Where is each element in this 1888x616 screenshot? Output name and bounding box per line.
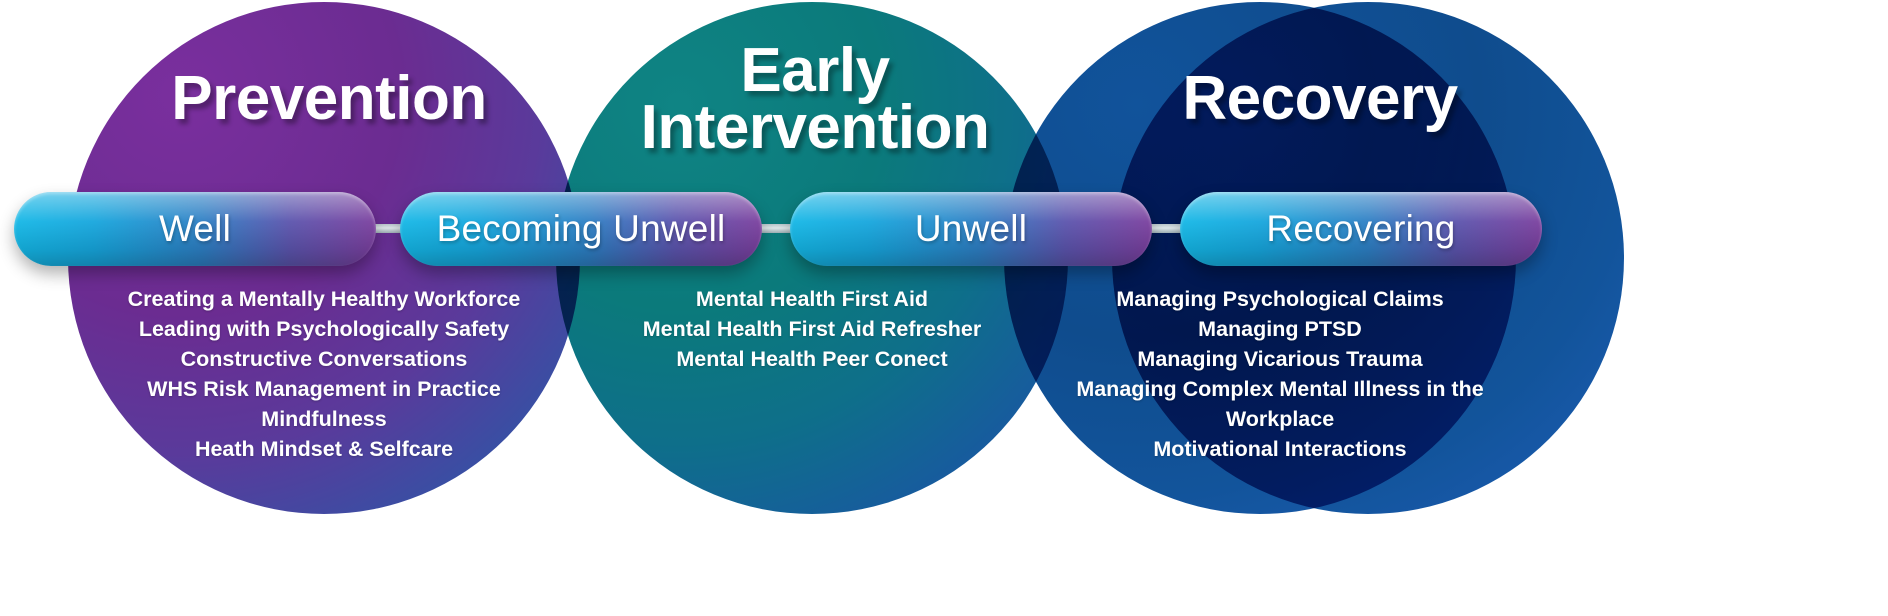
state-pill-becoming-unwell[interactable]: Becoming Unwell <box>400 192 762 266</box>
state-pill-unwell-label: Unwell <box>915 208 1027 250</box>
continuum-diagram: Prevention Early Intervention Recovery W… <box>0 0 1888 616</box>
state-pill-recovering-label: Recovering <box>1266 208 1455 250</box>
state-pill-well-label: Well <box>159 208 231 250</box>
circle-group <box>0 0 1888 616</box>
state-pill-recovering[interactable]: Recovering <box>1180 192 1542 266</box>
state-pill-becoming-unwell-label: Becoming Unwell <box>437 208 726 250</box>
state-pill-well[interactable]: Well <box>14 192 376 266</box>
state-pill-unwell[interactable]: Unwell <box>790 192 1152 266</box>
